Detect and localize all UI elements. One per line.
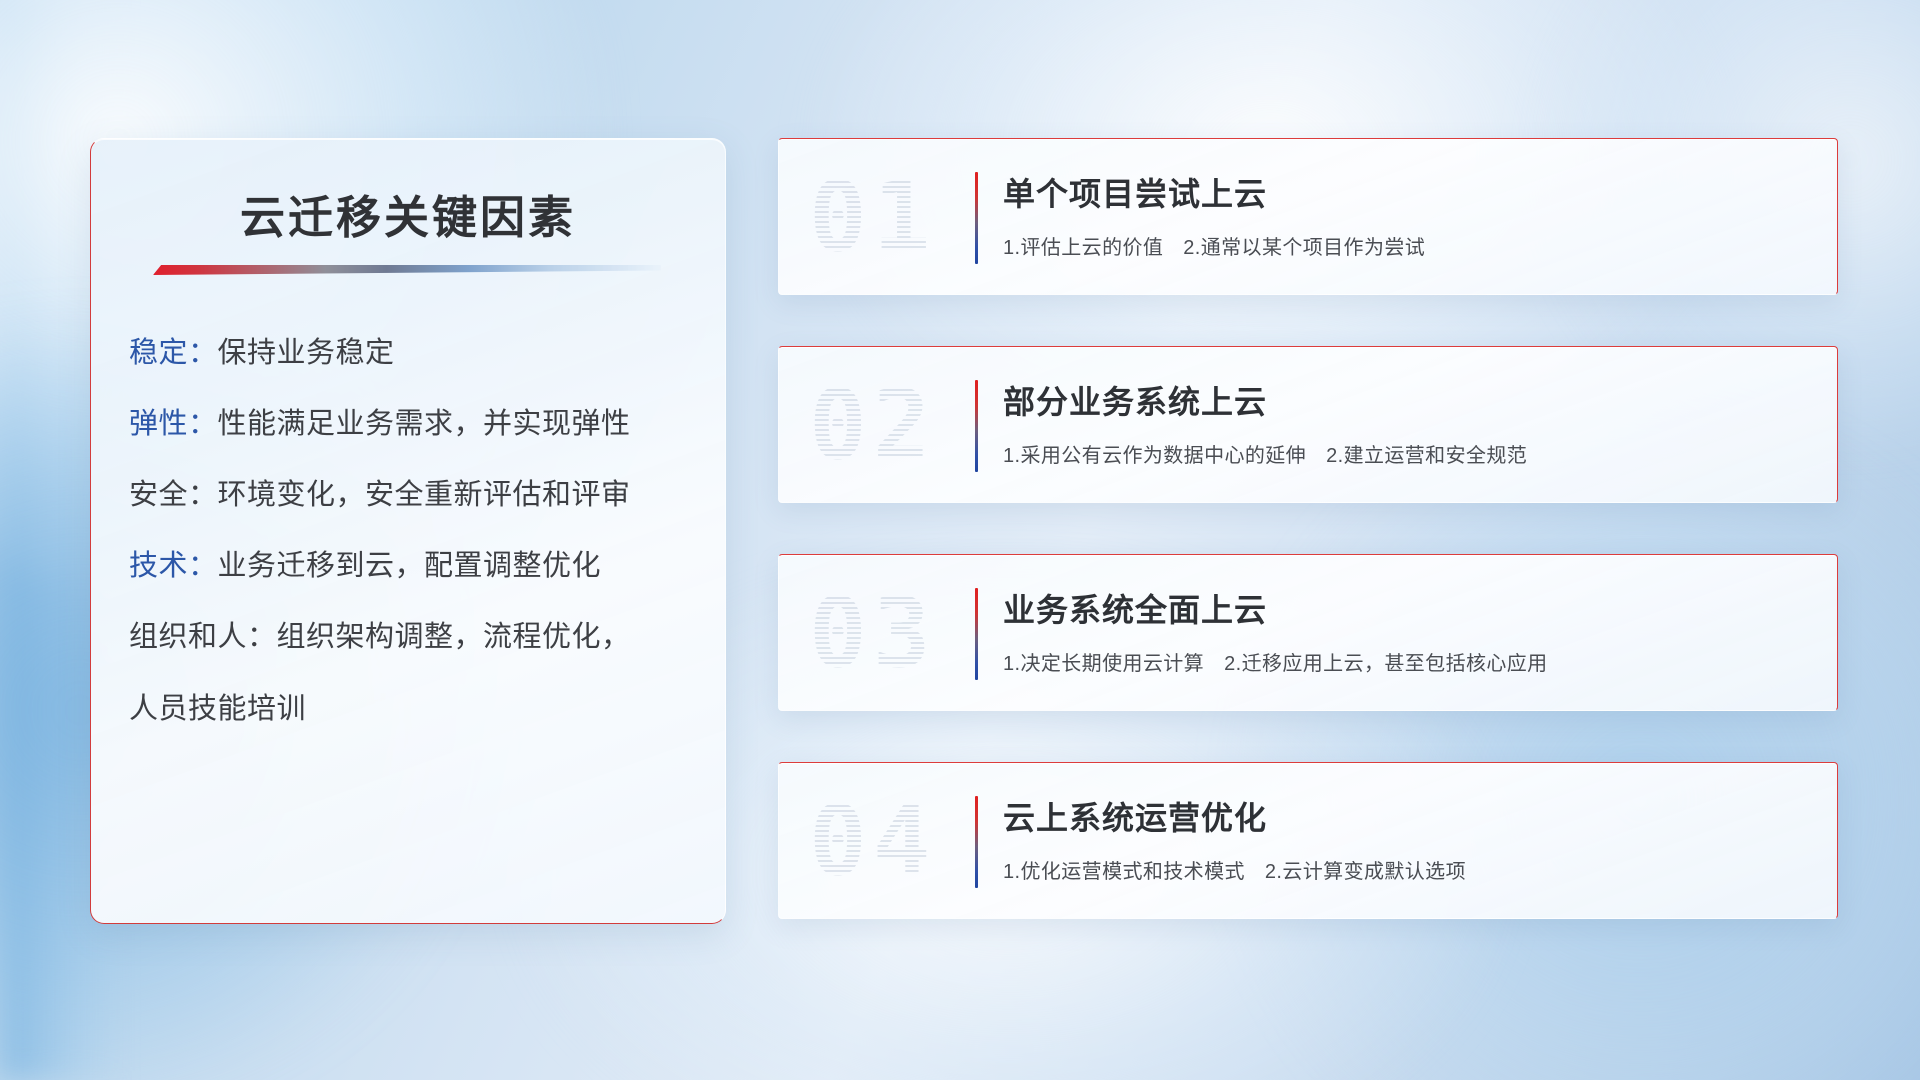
title-gradient-divider [153,265,661,275]
stage-description: 1.优化运营模式和技术模式2.云计算变成默认选项 [1003,855,1817,884]
stage-description: 1.评估上云的价值2.通常以某个项目作为尝试 [1003,231,1817,260]
list-item: 组织和人：组织架构调整，流程优化， [129,619,701,656]
list-item-text: 性能满足业务需求，并实现弹性 [218,408,631,440]
list-item-text: 保持业务稳定 [218,337,395,369]
stage-point-1: 1.评估上云的价值 [1003,237,1163,259]
stage-card-body: 业务系统全面上云 1.决定长期使用云计算2.迁移应用上云，甚至包括核心应用 [1003,585,1817,676]
page-title: 云迁移关键因素 [91,181,725,246]
stage-card-body: 部分业务系统上云 1.采用公有云作为数据中心的延伸2.建立运营和安全规范 [1003,377,1817,468]
list-item-text: 业务迁移到云，配置调整优化 [218,550,602,582]
stage-card-04[interactable]: 04 云上系统运营优化 1.优化运营模式和技术模式2.云计算变成默认选项 [778,762,1838,919]
stage-description: 1.采用公有云作为数据中心的延伸2.建立运营和安全规范 [1003,439,1817,468]
stage-point-1: 1.决定长期使用云计算 [1003,653,1204,675]
list-item: 人员技能培训 [129,691,701,728]
list-item-label: 弹性： [129,408,218,440]
stage-description: 1.决定长期使用云计算2.迁移应用上云，甚至包括核心应用 [1003,647,1817,676]
stage-number-ghost: 01 [809,161,937,273]
stage-title: 单个项目尝试上云 [1003,169,1817,215]
stage-point-2: 2.建立运营和安全规范 [1326,445,1527,467]
key-factors-list: 稳定：保持业务稳定 弹性：性能满足业务需求，并实现弹性 安全：环境变化，安全重新… [129,335,701,728]
stage-title: 业务系统全面上云 [1003,585,1817,631]
list-item: 技术：业务迁移到云，配置调整优化 [129,548,701,585]
list-item: 安全：环境变化，安全重新评估和评审 [129,477,701,514]
list-item-text: 人员技能培训 [129,693,306,725]
stage-number-ghost: 04 [809,785,937,897]
stage-point-2: 2.云计算变成默认选项 [1265,861,1466,883]
stage-title: 云上系统运营优化 [1003,793,1817,839]
list-item-label: 安全： [129,479,218,511]
stage-card-03[interactable]: 03 业务系统全面上云 1.决定长期使用云计算2.迁移应用上云，甚至包括核心应用 [778,554,1838,711]
key-factors-panel: 云迁移关键因素 稳定：保持业务稳定 弹性：性能满足业务需求，并实现弹性 安全：环… [90,138,726,924]
list-item-text: 组织架构调整，流程优化， [277,621,631,653]
stage-accent-bar [975,172,978,264]
stage-point-1: 1.采用公有云作为数据中心的延伸 [1003,445,1306,467]
list-item-label: 稳定： [129,337,218,369]
stage-card-body: 单个项目尝试上云 1.评估上云的价值2.通常以某个项目作为尝试 [1003,169,1817,260]
stage-card-02[interactable]: 02 部分业务系统上云 1.采用公有云作为数据中心的延伸2.建立运营和安全规范 [778,346,1838,503]
stage-number-ghost: 02 [809,369,937,481]
list-item-label: 技术： [129,550,218,582]
stage-card-body: 云上系统运营优化 1.优化运营模式和技术模式2.云计算变成默认选项 [1003,793,1817,884]
migration-stage-cards: 01 单个项目尝试上云 1.评估上云的价值2.通常以某个项目作为尝试 02 部分… [778,138,1838,919]
stage-number-ghost: 03 [809,577,937,689]
list-item: 稳定：保持业务稳定 [129,335,701,372]
list-item: 弹性：性能满足业务需求，并实现弹性 [129,406,701,443]
stage-point-1: 1.优化运营模式和技术模式 [1003,861,1245,883]
list-item-label: 组织和人： [129,621,277,653]
stage-accent-bar [975,380,978,472]
stage-accent-bar [975,796,978,888]
stage-card-01[interactable]: 01 单个项目尝试上云 1.评估上云的价值2.通常以某个项目作为尝试 [778,138,1838,295]
list-item-text: 环境变化，安全重新评估和评审 [218,479,631,511]
stage-point-2: 2.迁移应用上云，甚至包括核心应用 [1224,653,1547,675]
stage-title: 部分业务系统上云 [1003,377,1817,423]
stage-accent-bar [975,588,978,680]
slide-canvas: 云迁移关键因素 稳定：保持业务稳定 弹性：性能满足业务需求，并实现弹性 安全：环… [0,0,1920,1080]
stage-point-2: 2.通常以某个项目作为尝试 [1183,237,1425,259]
